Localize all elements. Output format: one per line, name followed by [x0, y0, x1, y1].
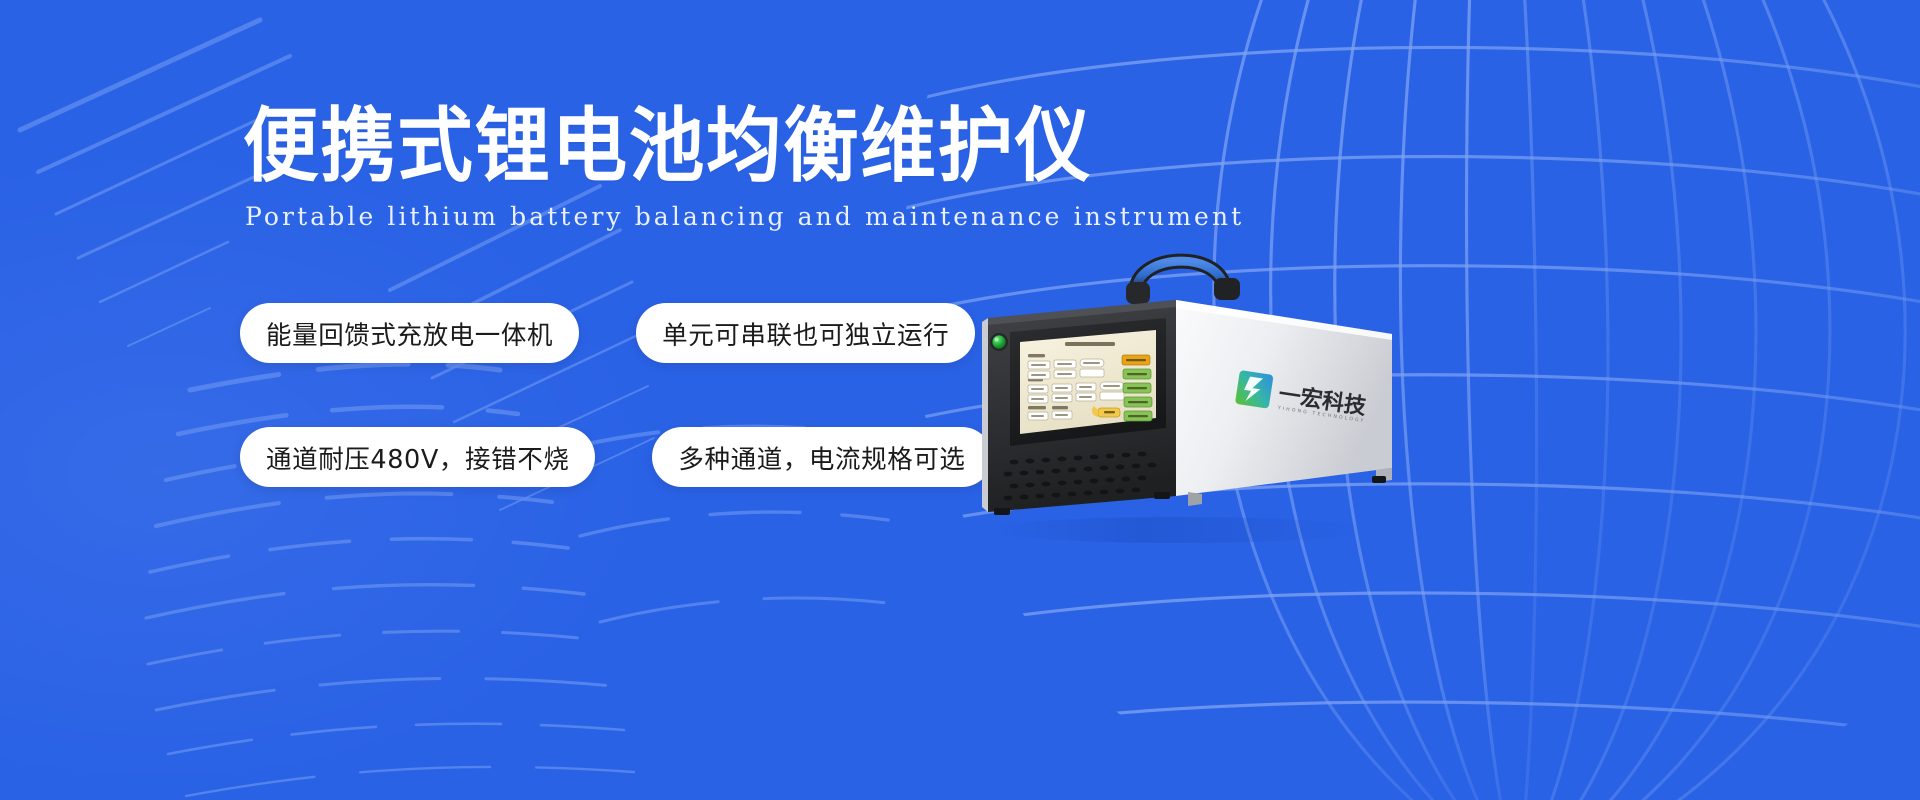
screen-action-buttons	[1122, 355, 1152, 421]
page-subtitle: Portable lithium battery balancing and m…	[245, 202, 1244, 231]
hero-text-column: 便携式锂电池均衡维护仪 Portable lithium battery bal…	[0, 0, 1080, 800]
feature-pill-row-2: 通道耐压480V，接错不烧 多种通道，电流规格可选	[240, 427, 940, 487]
feature-pill-channel-voltage[interactable]: 通道耐压480V，接错不烧	[240, 427, 595, 487]
touch-screen	[1010, 318, 1166, 446]
feature-pill-group: 能量回馈式充放电一体机 单元可串联也可独立运行 通道耐压480V，接错不烧 多种…	[240, 303, 940, 487]
product-shadow	[990, 517, 1370, 543]
feature-pill-row-1: 能量回馈式充放电一体机 单元可串联也可独立运行	[240, 303, 940, 363]
carry-handle-icon	[1126, 261, 1240, 304]
feature-pill-series-or-standalone[interactable]: 单元可串联也可独立运行	[636, 303, 975, 363]
product-image: 一宏科技 YIHONG TECHNOLOGY	[940, 230, 1410, 560]
product-hero-banner: 便携式锂电池均衡维护仪 Portable lithium battery bal…	[0, 0, 1920, 800]
page-title: 便携式锂电池均衡维护仪	[243, 108, 1092, 187]
power-led-indicator	[990, 333, 1008, 351]
feature-pill-energy-feedback[interactable]: 能量回馈式充放电一体机	[240, 303, 579, 363]
